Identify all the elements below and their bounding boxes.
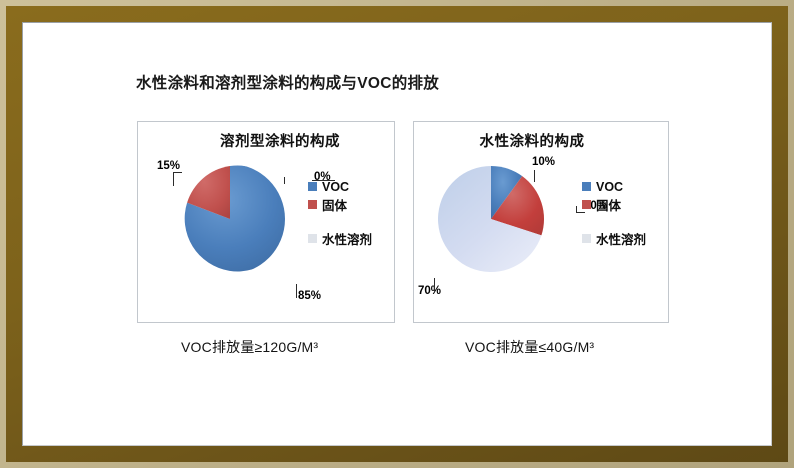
pie-graphic xyxy=(175,164,285,274)
pie-label-water-solvent: 70% xyxy=(418,285,441,297)
legend-label-solid: 固体 xyxy=(322,195,347,214)
pie-label-voc: 10% xyxy=(532,156,555,168)
pie-chart-waterborne-coating xyxy=(436,164,546,274)
legend-label-voc: VOC xyxy=(322,180,349,194)
pie-graphic xyxy=(436,164,546,274)
chart-panel-solvent-coating: 溶剂型涂料的构成 xyxy=(137,121,395,323)
legend-label-solid: 固体 xyxy=(596,195,621,214)
chart-panel-waterborne-coating: 水性涂料的构成 xyxy=(413,121,669,323)
slide-content-panel: 水性涂料和溶剂型涂料的构成与VOC的排放 溶剂型涂料的构成 xyxy=(22,22,772,446)
leader-line xyxy=(173,172,182,173)
legend-swatch-water-solvent xyxy=(308,234,317,243)
legend-item-solid[interactable]: 固体 xyxy=(308,196,372,213)
chart-title: 水性涂料的构成 xyxy=(414,130,668,151)
pie-chart-solvent-coating xyxy=(175,164,285,274)
legend-item-solid[interactable]: 固体 xyxy=(582,196,646,213)
slide-frame-inner-border: 水性涂料和溶剂型涂料的构成与VOC的排放 溶剂型涂料的构成 xyxy=(6,6,788,462)
legend-swatch-voc xyxy=(582,182,591,191)
chart-legend: VOC 固体 水性溶剂 xyxy=(308,178,372,248)
leader-line xyxy=(296,284,297,298)
legend-swatch-solid xyxy=(582,200,591,209)
pie-label-solid: 15% xyxy=(157,160,180,172)
chart-legend: VOC 固体 水性溶剂 xyxy=(582,178,646,248)
legend-label-water-solvent: 水性溶剂 xyxy=(596,229,646,248)
legend-swatch-solid xyxy=(308,200,317,209)
legend-item-water-solvent[interactable]: 水性溶剂 xyxy=(308,230,372,247)
leader-line xyxy=(576,206,577,213)
legend-label-voc: VOC xyxy=(596,180,623,194)
pie-slice-voc xyxy=(185,165,285,271)
caption-solvent-voc-emission: VOC排放量≥120G/M³ xyxy=(181,337,318,357)
leader-line xyxy=(434,278,435,291)
legend-swatch-water-solvent xyxy=(582,234,591,243)
legend-item-water-solvent[interactable]: 水性溶剂 xyxy=(582,230,646,247)
legend-label-water-solvent: 水性溶剂 xyxy=(322,229,372,248)
legend-item-voc[interactable]: VOC xyxy=(582,178,646,195)
leader-line xyxy=(534,170,535,182)
page-title: 水性涂料和溶剂型涂料的构成与VOC的排放 xyxy=(136,71,439,93)
leader-line xyxy=(173,172,174,186)
slide-decorative-frame: 水性涂料和溶剂型涂料的构成与VOC的排放 溶剂型涂料的构成 xyxy=(0,0,794,468)
legend-item-voc[interactable]: VOC xyxy=(308,178,372,195)
leader-line xyxy=(284,177,285,184)
chart-title: 溶剂型涂料的构成 xyxy=(138,130,394,151)
legend-swatch-voc xyxy=(308,182,317,191)
pie-label-voc: 85% xyxy=(298,290,321,302)
caption-waterborne-voc-emission: VOC排放量≤40G/M³ xyxy=(465,337,594,357)
